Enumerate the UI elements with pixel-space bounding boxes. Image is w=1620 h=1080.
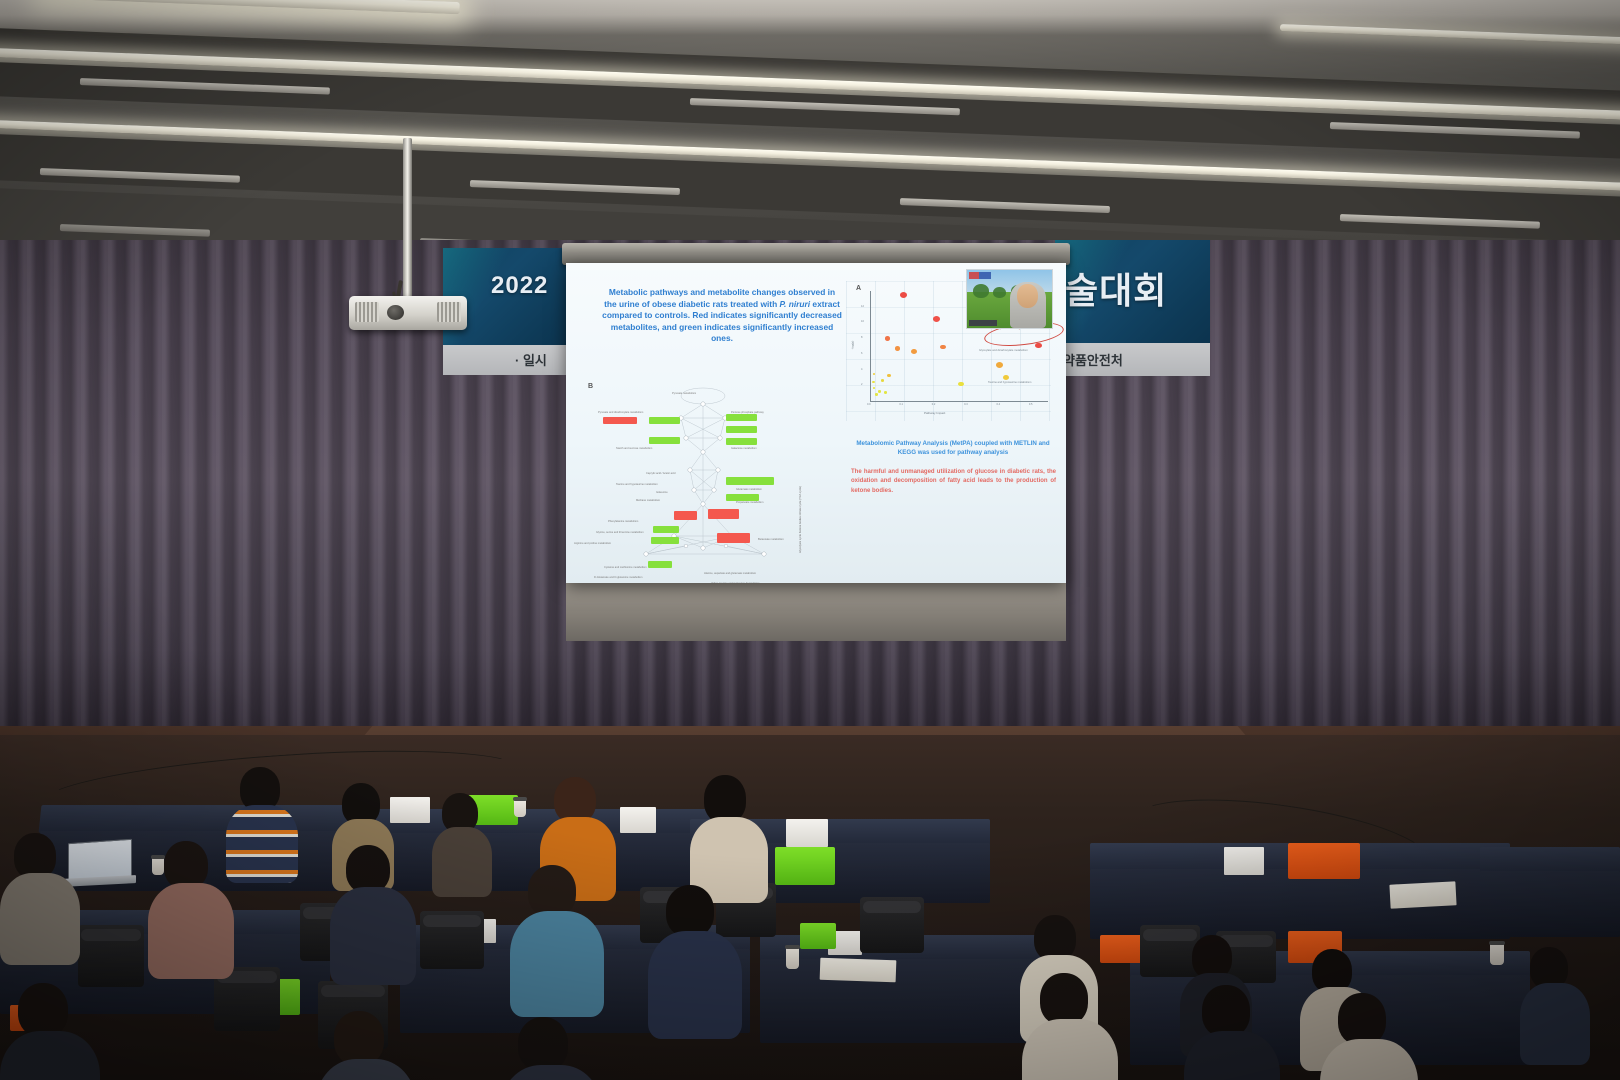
- banner-right-title: 술대회: [1065, 262, 1167, 314]
- webcam-nametag: [969, 320, 997, 326]
- webcam-logo: [969, 272, 991, 279]
- y-axis: [870, 291, 871, 401]
- network-label: Taurine and hypotaurine metabolism: [616, 483, 658, 486]
- network-label: Valine, leucine and isoleucine degradati…: [711, 582, 759, 583]
- metabolite-box-decreased: [708, 509, 739, 519]
- chair: [1140, 925, 1200, 977]
- projector-mount-pole: [403, 138, 412, 298]
- ceiling-projector: [349, 296, 467, 330]
- network-axis-label: Glycolysis cycle Ketone bodies Citrate c…: [799, 486, 802, 553]
- slide-title: Metabolic pathways and metabolite change…: [602, 287, 842, 345]
- scatter-point: [895, 346, 901, 351]
- scatter-point: [958, 382, 964, 387]
- scatter-point: [872, 381, 875, 383]
- annotation-taurine: Taurine and hypotaurine metabolism: [988, 381, 1031, 384]
- x-tick: 0.4: [996, 403, 1000, 406]
- network-label: Glutamate metabolism: [736, 488, 762, 491]
- metabolite-box-increased: [649, 437, 680, 444]
- chair: [860, 897, 924, 953]
- metabolite-box-increased: [651, 537, 679, 544]
- metabolite-box-decreased: [717, 533, 750, 543]
- metabolite-box-decreased: [674, 511, 697, 520]
- chair: [78, 925, 144, 987]
- white-box: [390, 797, 430, 823]
- network-label: Phenylalanine metabolism: [608, 520, 638, 523]
- projection-screen-skirt: [566, 583, 1066, 641]
- scatter-point: [885, 336, 890, 340]
- network-label: Butanoate metabolism: [758, 538, 784, 541]
- scatter-point: [878, 390, 881, 393]
- open-notebook: [1389, 881, 1456, 908]
- y-axis-label: -log(p): [850, 341, 854, 350]
- presentation-slide: Metabolic pathways and metabolite change…: [566, 263, 1066, 583]
- x-tick: 0.0: [867, 403, 871, 406]
- network-label: Cysteine and methionine metabolism: [604, 566, 647, 569]
- annotation-glyoxylate: Glyoxylate and dicarboxylate metabolism: [979, 349, 1028, 352]
- scatter-point: [933, 316, 940, 322]
- network-label: Methane metabolism: [636, 499, 660, 502]
- x-tick: 0.1: [899, 403, 903, 406]
- network-label: Propanoate metabolism: [736, 501, 763, 504]
- metabolite-box-increased: [653, 526, 679, 533]
- metabolite-box-increased: [726, 477, 774, 485]
- banner-left-subtitle: · 일시: [515, 350, 547, 369]
- orange-bag: [1288, 843, 1360, 879]
- chair: [420, 911, 484, 969]
- network-label: Alanine, aspartate and glutamate metabol…: [704, 572, 756, 575]
- metabolic-network-diagram: Pyruvate metabolism Pyruvate and dicarbo…: [586, 378, 841, 568]
- presenter-figure: [1008, 278, 1048, 328]
- y-tick: 6: [861, 352, 862, 355]
- x-tick: 0.5: [1029, 403, 1033, 406]
- metabolite-box-increased: [726, 414, 757, 421]
- green-bag: [800, 923, 836, 949]
- metabolite-box-increased: [648, 561, 672, 568]
- presenter-webcam-overlay: [966, 269, 1053, 329]
- banner-right: 술대회 약품안전처: [1055, 240, 1210, 376]
- metabolite-box-increased: [726, 426, 757, 433]
- network-label: Glycine, serine and threonine metabolism: [596, 531, 644, 534]
- x-tick: 0.3: [964, 403, 968, 406]
- network-label: Galactose metabolism: [731, 447, 757, 450]
- y-tick: 2: [861, 383, 862, 386]
- x-axis-label: Pathway Impact: [924, 411, 945, 415]
- ceiling: [0, 0, 1620, 250]
- metabolite-box-increased: [726, 494, 759, 501]
- table: [1480, 847, 1620, 873]
- network-label: D-Glutamate and D-glutamine metabolism: [594, 576, 642, 579]
- projection-screen: Metabolic pathways and metabolite change…: [566, 263, 1066, 583]
- network-label: Starch and sucrose metabolism: [616, 447, 652, 450]
- white-box: [620, 807, 656, 833]
- network-label: Pyruvate and dicarboxylate metabolism: [598, 411, 643, 414]
- y-tick: 12: [861, 305, 864, 308]
- slide-red-paragraph: The harmful and unmanaged utilization of…: [851, 468, 1056, 496]
- x-axis: [870, 401, 1048, 402]
- white-box: [1224, 847, 1264, 875]
- green-bag: [775, 847, 835, 885]
- coffee-cup: [514, 799, 526, 817]
- metabolite-box-decreased: [603, 417, 637, 424]
- banner-right-subtitle: 약품안전처: [1063, 350, 1123, 369]
- ceiling-light-tube: [40, 0, 460, 14]
- scatter-point: [911, 349, 917, 354]
- network-label: Isoleucine: [656, 491, 668, 494]
- slide-blue-caption: Metabolomic Pathway Analysis (MetPA) cou…: [848, 439, 1058, 457]
- metabolite-box-increased: [726, 438, 757, 445]
- y-tick: 10: [861, 320, 864, 323]
- y-tick: 8: [861, 336, 862, 339]
- ceiling-light-tube: [1280, 24, 1620, 45]
- metabolite-box-increased: [649, 417, 680, 424]
- projection-screen-housing: [562, 243, 1070, 265]
- banner-left-title: 2022: [491, 272, 548, 300]
- scatter-point: [1035, 343, 1042, 349]
- network-center-label: Pyruvate metabolism: [672, 392, 696, 395]
- white-box: [786, 819, 828, 847]
- network-label: Arginine and proline metabolism: [574, 542, 611, 545]
- y-tick: 4: [861, 368, 862, 371]
- network-label: Caprylic acid / Acetic acid: [646, 472, 675, 475]
- coffee-cup: [1490, 943, 1504, 965]
- scatter-point: [996, 362, 1003, 368]
- auditorium-photo: 2022 · 일시 술대회 약품안전처 Metabolic pathways a…: [0, 0, 1620, 1080]
- audience-area: [0, 735, 1620, 1080]
- coffee-cup: [152, 857, 164, 875]
- table: [1480, 871, 1620, 937]
- scatter-point: [875, 393, 878, 395]
- x-tick: 0.2: [932, 403, 936, 406]
- open-notebook: [820, 958, 897, 983]
- table: [760, 959, 1060, 1043]
- coffee-cup: [786, 947, 799, 969]
